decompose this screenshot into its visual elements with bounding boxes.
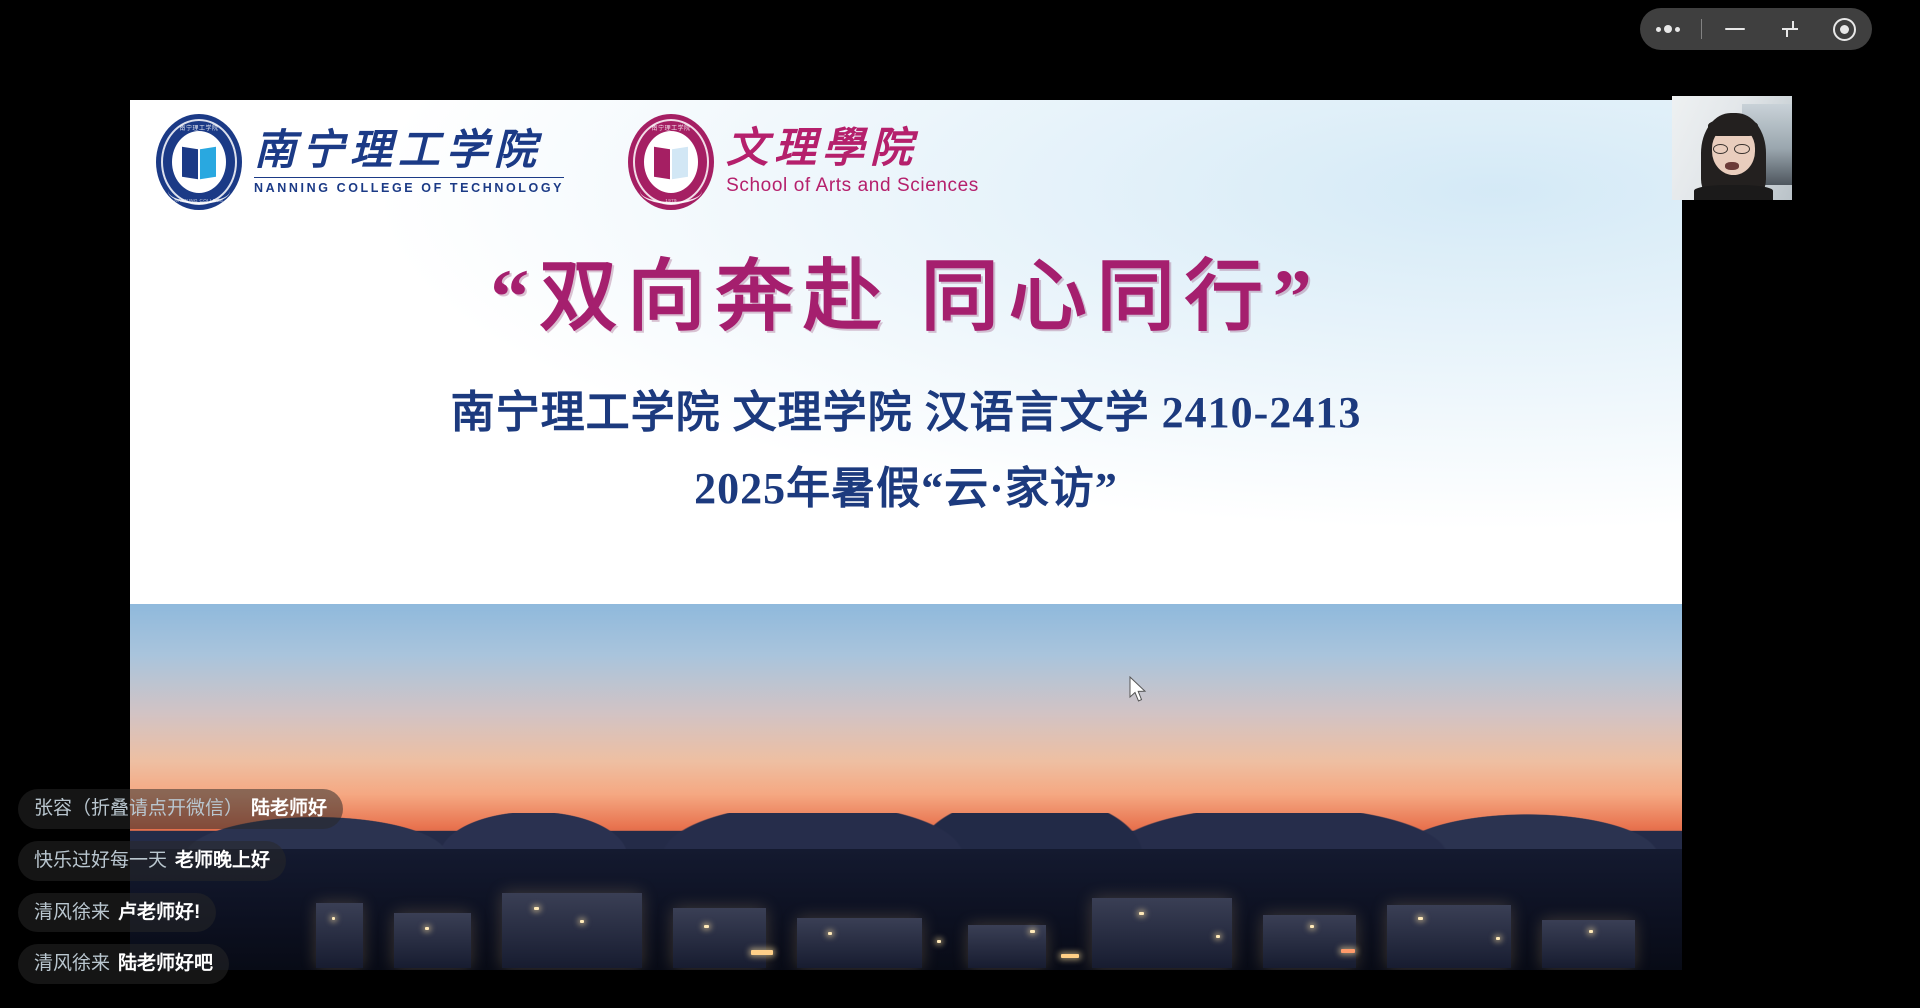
chat-sender: 清风徐来 [34,901,110,925]
slide-subtitle-line-2: 2025年暑假“云·家访” [130,452,1682,516]
chat-text: 陆老师好吧 [118,952,213,976]
chat-sender: 快乐过好每一天 [34,849,167,873]
logo-row: 南宁理工学院 NANNING COLLEGE 南宁理工学院 NANNING CO… [130,100,1682,210]
seal-ring-text: 南宁理工学院 [652,123,691,132]
chat-sender: 张容（折叠请点开微信） [34,797,243,821]
slide-subtitle-line-1: 南宁理工学院 文理学院 汉语言文学 2410-2413 [130,376,1682,440]
chat-text: 陆老师好 [251,797,327,821]
shared-slide: 南宁理工学院 NANNING COLLEGE 南宁理工学院 NANNING CO… [130,100,1682,970]
screen-share-viewport: 南宁理工学院 NANNING COLLEGE 南宁理工学院 NANNING CO… [0,0,1920,1008]
minimize-dash-icon [1725,28,1745,31]
seal-bottom-text: 1979 [665,198,677,203]
city-lights [130,846,1682,970]
control-divider [1701,19,1702,39]
chat-message: 快乐过好每一天 老师晚上好 [18,841,286,881]
slide-upper-white-area: 南宁理工学院 NANNING COLLEGE 南宁理工学院 NANNING CO… [130,100,1682,604]
university-seal-icon: 南宁理工学院 NANNING COLLEGE [156,114,242,210]
slide-title: “双向奔赴 同心同行” [130,234,1682,346]
chat-message-list: 张容（折叠请点开微信） 陆老师好 快乐过好每一天 老师晚上好 清风徐来 卢老师好… [18,789,343,984]
chat-text: 老师晚上好 [175,849,270,873]
self-view-camera-thumbnail[interactable] [1672,96,1792,200]
floating-control-bar [1640,8,1872,50]
logo-chinese-name: 南宁理工学院 [254,129,564,173]
logo-school-of-arts-and-sciences: 南宁理工学院 1979 文理學院 School of Arts and Scie… [628,114,979,210]
record-button[interactable] [1823,8,1867,50]
campus-sunset-photo [130,604,1682,970]
record-circle-icon [1833,18,1856,41]
logo-english-name: NANNING COLLEGE OF TECHNOLOGY [254,177,564,195]
more-options-button[interactable] [1646,8,1690,50]
minimize-button[interactable] [1713,8,1757,50]
more-dots-icon [1656,25,1680,33]
mouse-cursor [1128,676,1148,704]
school-seal-icon: 南宁理工学院 1979 [628,114,714,210]
logo-nanning-college: 南宁理工学院 NANNING COLLEGE 南宁理工学院 NANNING CO… [156,114,564,210]
logo-chinese-name: 文理學院 [726,127,979,171]
chat-message: 清风徐来 陆老师好吧 [18,944,229,984]
chat-text: 卢老师好! [118,901,200,925]
logo-english-name: School of Arts and Sciences [726,175,979,197]
chat-message: 清风徐来 卢老师好! [18,893,216,933]
chat-sender: 清风徐来 [34,952,110,976]
fullscreen-button[interactable] [1768,8,1812,50]
chat-message: 张容（折叠请点开微信） 陆老师好 [18,789,343,829]
seal-ring-text: 南宁理工学院 [179,123,218,132]
fullscreen-expand-icon [1779,18,1801,40]
seal-bottom-text: NANNING COLLEGE [174,198,223,203]
